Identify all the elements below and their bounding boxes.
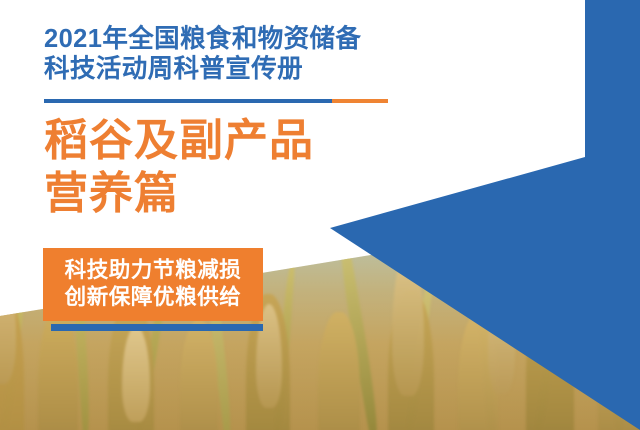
slogan-badge-underline — [51, 324, 263, 331]
header-text: 2021年全国粮食和物资储备 科技活动周科普宣传册 — [44, 24, 474, 84]
slogan-badge-body: 科技助力节粮减损 创新保障优粮供给 — [43, 248, 263, 321]
page-title: 稻谷及副产品 营养篇 — [44, 114, 464, 220]
poster-canvas: 2021年全国粮食和物资储备 科技活动周科普宣传册 稻谷及副产品 营养篇 科技助… — [0, 0, 640, 430]
page-title-line-2: 营养篇 — [44, 167, 464, 220]
slogan-line-1: 科技助力节粮减损 — [43, 257, 263, 284]
divider-segment-orange — [332, 99, 388, 103]
page-title-line-1: 稻谷及副产品 — [44, 114, 464, 167]
header-line-1: 2021年全国粮食和物资储备 — [44, 24, 474, 54]
header-line-2: 科技活动周科普宣传册 — [44, 54, 474, 84]
divider-rule — [44, 99, 388, 103]
slogan-line-2: 创新保障优粮供给 — [43, 284, 263, 311]
slogan-badge: 科技助力节粮减损 创新保障优粮供给 — [43, 248, 263, 331]
divider-segment-blue — [44, 99, 332, 103]
